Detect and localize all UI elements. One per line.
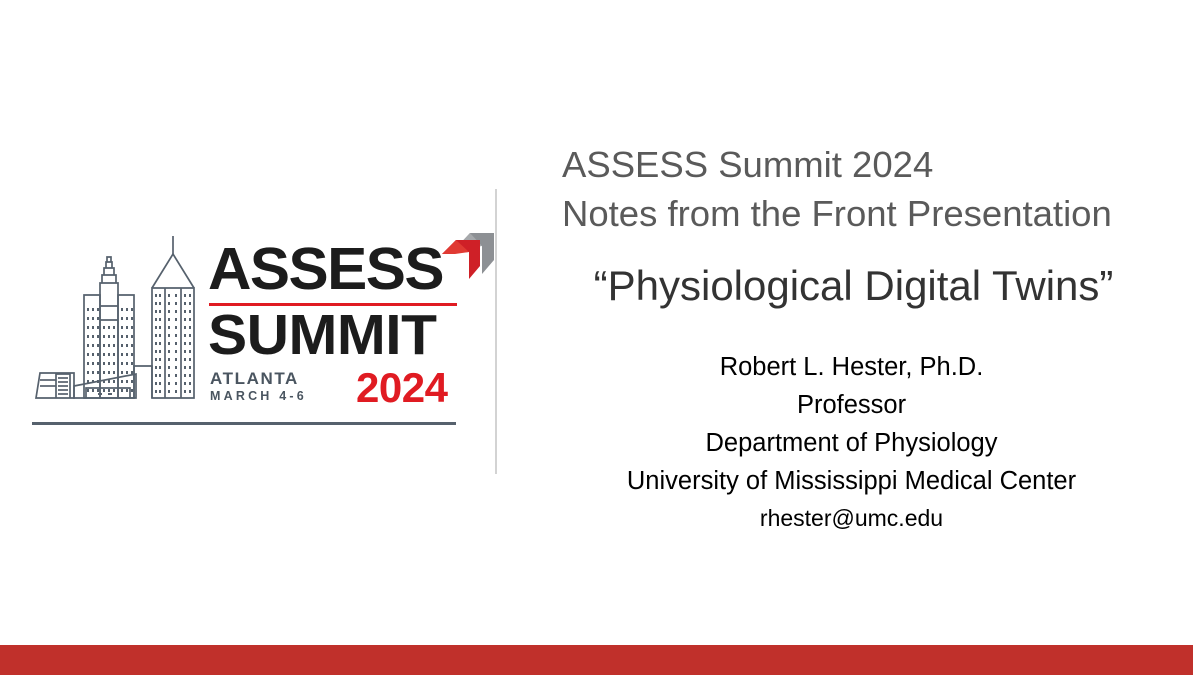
wordmark-summit: SUMMIT [208,307,436,364]
presentation-series-line: Notes from the Front Presentation [520,189,1193,238]
assess-summit-logo: ASSESS SUMMIT ATLANTA MARCH 4-6 2024 [18,228,470,433]
author-block: Robert L. Hester, Ph.D. Professor Depart… [520,348,1193,536]
footer-accent-band [0,645,1193,675]
author-institution: University of Mississippi Medical Center [520,462,1183,500]
wordmark-year: 2024 [356,367,447,409]
wordmark-city: ATLANTA [210,370,299,387]
page-title: “Physiological Digital Twins” [520,258,1193,314]
atlanta-skyline-icon [18,228,218,428]
author-email: rhester@umc.edu [520,500,1183,536]
title-text-block: ASSESS Summit 2024 Notes from the Front … [520,140,1193,536]
assess-summit-wordmark: ASSESS SUMMIT ATLANTA MARCH 4-6 2024 [208,228,470,403]
author-department: Department of Physiology [520,424,1183,462]
wordmark-dates: MARCH 4-6 [210,390,307,403]
event-name-line: ASSESS Summit 2024 [520,140,1193,189]
author-name: Robert L. Hester, Ph.D. [520,348,1183,386]
assess-chevron-arrow-icon [436,230,496,282]
wordmark-assess: ASSESS [208,240,443,299]
logo-baseline-rule [32,422,456,425]
title-slide: ASSESS SUMMIT ATLANTA MARCH 4-6 2024 ASS… [0,0,1193,675]
vertical-divider [495,189,497,474]
author-role: Professor [520,386,1183,424]
